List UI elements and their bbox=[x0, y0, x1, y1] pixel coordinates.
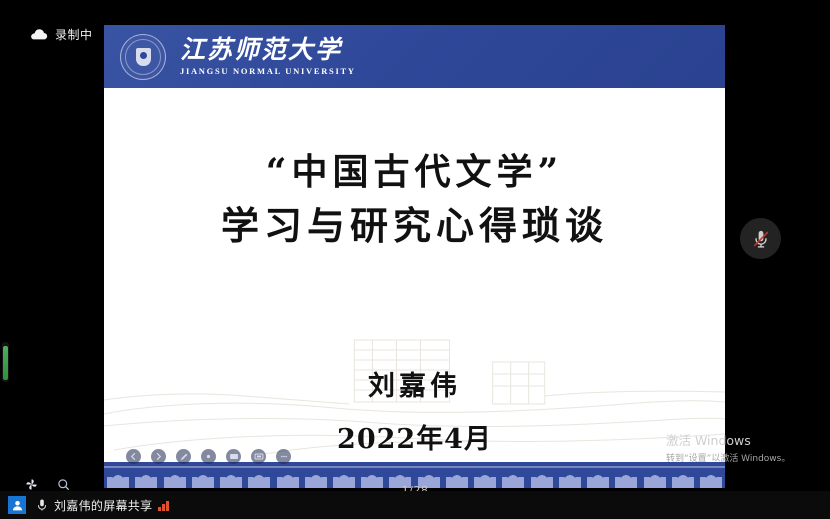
recording-label: 录制中 bbox=[55, 26, 93, 43]
pen-button[interactable] bbox=[176, 449, 191, 464]
seal-shield-shape bbox=[136, 48, 151, 66]
audio-level-meter bbox=[2, 342, 9, 382]
pointer-button[interactable] bbox=[201, 449, 216, 464]
slide-title-line-2: 学习与研究心得琐谈 bbox=[104, 201, 725, 250]
mini-toolbar[interactable] bbox=[24, 477, 70, 491]
windows-activation-title: 激活 Windows bbox=[666, 430, 816, 449]
person-avatar-icon bbox=[8, 496, 26, 514]
next-slide-button[interactable] bbox=[151, 449, 166, 464]
previous-slide-button[interactable] bbox=[126, 449, 141, 464]
audio-level-fill bbox=[3, 346, 8, 380]
university-name-block: 江苏师范大学 JIANGSU NORMAL UNIVERSITY bbox=[180, 37, 356, 76]
windows-activation-subtitle: 转到“设置”以激活 Windows。 bbox=[666, 451, 816, 464]
more-options-button[interactable] bbox=[276, 449, 291, 464]
microphone-icon[interactable] bbox=[35, 498, 48, 513]
windows-activation-watermark: 激活 Windows 转到“设置”以激活 Windows。 bbox=[666, 430, 816, 464]
slide-title-line-1: “中国古代文学” bbox=[104, 150, 725, 195]
cloud-icon bbox=[30, 28, 48, 41]
all-slides-button[interactable] bbox=[251, 449, 266, 464]
slide-header: 江苏师范大学 JIANGSU NORMAL UNIVERSITY bbox=[104, 25, 725, 88]
slide-title-block: “中国古代文学” 学习与研究心得琐谈 bbox=[104, 150, 725, 250]
slide-author-name: 刘嘉伟 bbox=[104, 364, 725, 403]
screen-share-viewer: 录制中 江苏师范大学 JIANGSU NORMAL UNIVERSITY bbox=[0, 0, 830, 519]
presentation-toolbar[interactable] bbox=[126, 448, 291, 465]
screen-share-label: 刘嘉伟的屏幕共享 bbox=[54, 497, 152, 514]
signal-bars-icon bbox=[158, 500, 169, 511]
recording-indicator: 录制中 bbox=[30, 26, 93, 43]
university-seal-icon bbox=[120, 34, 166, 80]
slide-show-button[interactable] bbox=[226, 449, 241, 464]
bottom-status-bar: 刘嘉伟的屏幕共享 bbox=[0, 491, 830, 519]
slide-author-block: 刘嘉伟 2022年4月 bbox=[104, 364, 725, 456]
university-name-en: JIANGSU NORMAL UNIVERSITY bbox=[180, 66, 356, 76]
pinwheel-icon[interactable] bbox=[24, 477, 38, 491]
microphone-muted-button[interactable] bbox=[740, 218, 781, 259]
shared-slide[interactable]: 江苏师范大学 JIANGSU NORMAL UNIVERSITY bbox=[104, 25, 725, 488]
magnifier-icon[interactable] bbox=[56, 477, 70, 491]
university-name-cn: 江苏师范大学 bbox=[180, 37, 356, 63]
microphone-muted-icon bbox=[750, 228, 772, 250]
slide-body: “中国古代文学” 学习与研究心得琐谈 刘嘉伟 2022年4月 bbox=[104, 88, 725, 488]
